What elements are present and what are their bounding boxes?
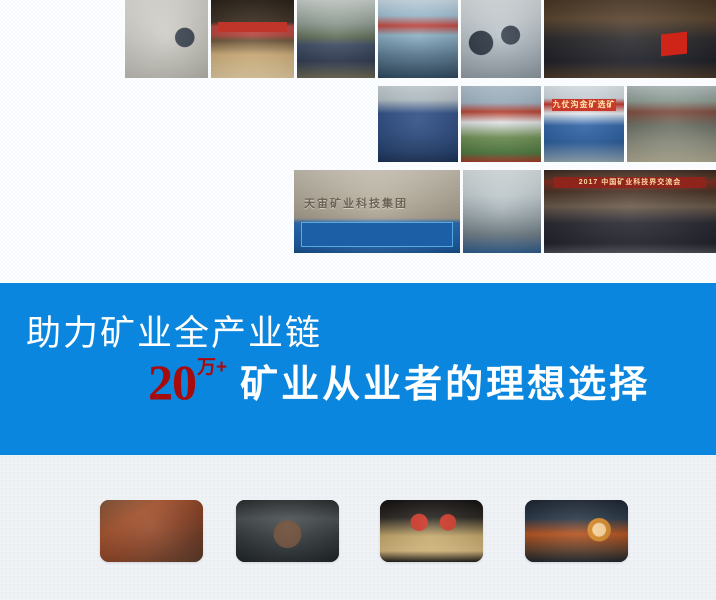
collage-tile-lab-instrument-operator: [125, 0, 208, 78]
banner-headline-primary: 助力矿业全产业链: [26, 305, 322, 356]
staff-group-blue-uniform-photo: [378, 86, 458, 162]
lab-instrument-operator-photo: [125, 0, 208, 78]
lab-sample-handling-photo: [461, 0, 541, 78]
executive-office-portrait-photo: [544, 0, 716, 78]
collage-tile-worker-portrait-equipment: [463, 170, 541, 253]
processing-plant-line-photo: [378, 0, 458, 78]
collage-tile-ceremony-signing-hall: [211, 0, 294, 78]
banner-headline-secondary: 20 万+ 矿业从业者的理想选择: [148, 361, 650, 403]
bottom-card-geologist-field-sampling: [100, 500, 203, 562]
collage-tile-outdoor-promotion-rally: [461, 86, 541, 162]
collage-tile-field-team-mountain: [297, 0, 375, 78]
mine-facade-sign-text: 九仗沟金矿选矿: [552, 99, 616, 111]
collage-tile-hardhat-workers-vehicle: [627, 86, 716, 162]
bottom-photo-strip: [0, 455, 716, 600]
promo-banner: 助力矿业全产业链 20 万+ 矿业从业者的理想选择: [0, 283, 716, 455]
bottom-card-smiling-miner-portrait: [236, 500, 339, 562]
china-flag-icon: [661, 31, 687, 56]
ceremony-red-backdrop: [218, 22, 288, 32]
collage-tile-staff-group-blue-uniform: [378, 86, 458, 162]
banner-tagline: 矿业从业者的理想选择: [240, 365, 650, 405]
two-workers-red-helmets-photo: [380, 500, 483, 562]
mine-office-facade-team-photo: [544, 86, 624, 162]
field-team-mountain-photo: [297, 0, 375, 78]
collage-tile-annual-conference-assembly: 2017 中国矿业科技界交流会: [544, 170, 716, 253]
worker-portrait-equipment-photo: [463, 170, 541, 253]
outdoor-promotion-rally-photo: [461, 86, 541, 162]
smelter-furnace-worker-photo: [525, 500, 628, 562]
collage-tile-company-signage-wall: 天宙矿业科技集团: [294, 170, 460, 253]
signage-subsidiary-board: [301, 222, 454, 247]
ceremony-signing-hall-photo: [211, 0, 294, 78]
geologist-field-sampling-photo: [100, 500, 203, 562]
collage-tile-mine-office-facade-team: 九仗沟金矿选矿: [544, 86, 624, 162]
smiling-miner-portrait-photo: [236, 500, 339, 562]
collage-tile-lab-sample-handling: [461, 0, 541, 78]
member-count-number: 20: [148, 361, 196, 403]
collage-tile-processing-plant-line: [378, 0, 458, 78]
hardhat-workers-vehicle-photo: [627, 86, 716, 162]
company-name-signage-text: 天宙矿业科技集团: [304, 195, 408, 211]
photo-collage: 九仗沟金矿选矿天宙矿业科技集团2017 中国矿业科技界交流会: [0, 0, 716, 283]
conference-banner-text: 2017 中国矿业科技界交流会: [554, 177, 705, 189]
collage-tile-executive-office-portrait: [544, 0, 716, 78]
member-count-unit: 万+: [197, 358, 227, 377]
bottom-card-two-workers-red-helmets: [380, 500, 483, 562]
bottom-card-smelter-furnace-worker: [525, 500, 628, 562]
